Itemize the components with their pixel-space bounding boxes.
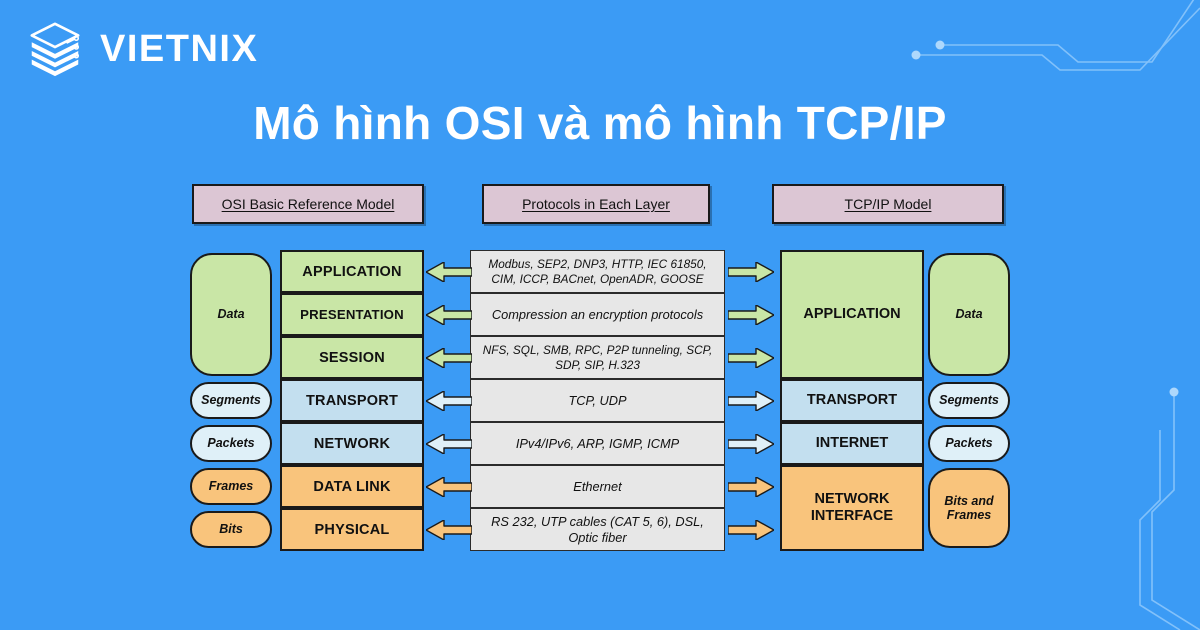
brand-header: VIETNIX [24,18,258,80]
osi-layer-physical: PHYSICAL [280,508,424,551]
layer-stack-icon [24,18,86,80]
arrow-left-3 [426,391,472,411]
pdu-left-label: Bits [219,522,243,536]
osi-layer-label: PHYSICAL [315,522,390,538]
pdu-left-label: Segments [201,393,261,407]
protocol-cell-text: Compression an encryption protocols [492,307,703,323]
pdu-left-label: Packets [207,436,254,450]
tcpip-layer-network-interface: NETWORK INTERFACE [780,465,924,551]
pdu-left-label: Frames [209,479,253,493]
osi-layer-label: SESSION [319,350,385,366]
arrow-right-5 [728,477,774,497]
diagram-grid: APPLICATIONPRESENTATIONSESSIONTRANSPORTN… [150,250,1050,572]
osi-layer-application: APPLICATION [280,250,424,293]
tcpip-column-header: TCP/IP Model [772,184,1004,224]
pdu-left-label: Data [217,307,244,321]
pdu-right-label: Segments [939,393,999,407]
arrow-right-6 [728,520,774,540]
pdu-right-label: Packets [945,436,992,450]
arrow-left-0 [426,262,472,282]
arrow-left-1 [426,305,472,325]
pdu-right-label: Data [955,307,982,321]
pdu-right-segments: Segments [928,382,1010,419]
tcpip-layer-label: TRANSPORT [807,392,897,409]
arrow-right-2 [728,348,774,368]
pdu-left-bits: Bits [190,511,272,548]
osi-layer-label: DATA LINK [313,479,390,495]
osi-layer-data-link: DATA LINK [280,465,424,508]
tcpip-layer-transport: TRANSPORT [780,379,924,422]
arrow-left-5 [426,477,472,497]
protocol-cell-text: Ethernet [573,479,621,495]
protocol-cell-text: IPv4/IPv6, ARP, IGMP, ICMP [516,436,679,452]
osi-layer-label: TRANSPORT [306,393,398,409]
protocol-cell-text: TCP, UDP [568,393,626,409]
pdu-left-packets: Packets [190,425,272,462]
protocol-cell-3: TCP, UDP [470,379,725,422]
osi-layer-label: PRESENTATION [300,307,404,322]
arrow-right-1 [728,305,774,325]
protocol-cell-5: Ethernet [470,465,725,508]
pdu-left-data: Data [190,253,272,376]
arrow-left-6 [426,520,472,540]
protocols-column-header-label: Protocols in Each Layer [522,196,670,212]
pdu-right-data: Data [928,253,1010,376]
osi-layer-label: NETWORK [314,436,390,452]
pdu-left-segments: Segments [190,382,272,419]
osi-tcpip-diagram: OSI Basic Reference Model Protocols in E… [150,178,1050,578]
tcpip-layer-label: NETWORK INTERFACE [802,491,902,525]
protocol-cell-2: NFS, SQL, SMB, RPC, P2P tunneling, SCP, … [470,336,725,379]
osi-layer-presentation: PRESENTATION [280,293,424,336]
pdu-right-label: Bits and Frames [934,494,1004,523]
arrow-right-0 [728,262,774,282]
osi-layer-session: SESSION [280,336,424,379]
osi-column-header-label: OSI Basic Reference Model [222,196,395,212]
arrow-right-3 [728,391,774,411]
tcpip-layer-internet: INTERNET [780,422,924,465]
tcpip-layer-application: APPLICATION [780,250,924,379]
protocol-cell-6: RS 232, UTP cables (CAT 5, 6), DSL, Opti… [470,508,725,551]
protocols-column-header: Protocols in Each Layer [482,184,710,224]
tcpip-layer-label: APPLICATION [803,306,900,323]
pdu-left-frames: Frames [190,468,272,505]
protocol-cell-text: Modbus, SEP2, DNP3, HTTP, IEC 61850, CIM… [477,257,718,286]
arrow-left-2 [426,348,472,368]
page-title: Mô hình OSI và mô hình TCP/IP [0,96,1200,150]
osi-layer-transport: TRANSPORT [280,379,424,422]
pdu-right-packets: Packets [928,425,1010,462]
arrow-left-4 [426,434,472,454]
tcpip-layer-label: INTERNET [816,435,889,452]
brand-name: VIETNIX [100,30,258,68]
pdu-right-bits-and-frames: Bits and Frames [928,468,1010,548]
tcpip-column-header-label: TCP/IP Model [845,196,932,212]
protocol-cell-text: RS 232, UTP cables (CAT 5, 6), DSL, Opti… [477,514,718,546]
protocol-cell-4: IPv4/IPv6, ARP, IGMP, ICMP [470,422,725,465]
protocol-cell-0: Modbus, SEP2, DNP3, HTTP, IEC 61850, CIM… [470,250,725,293]
osi-layer-label: APPLICATION [302,264,401,280]
protocol-cell-text: NFS, SQL, SMB, RPC, P2P tunneling, SCP, … [477,343,718,372]
arrow-right-4 [728,434,774,454]
osi-layer-network: NETWORK [280,422,424,465]
protocol-cell-1: Compression an encryption protocols [470,293,725,336]
osi-column-header: OSI Basic Reference Model [192,184,424,224]
